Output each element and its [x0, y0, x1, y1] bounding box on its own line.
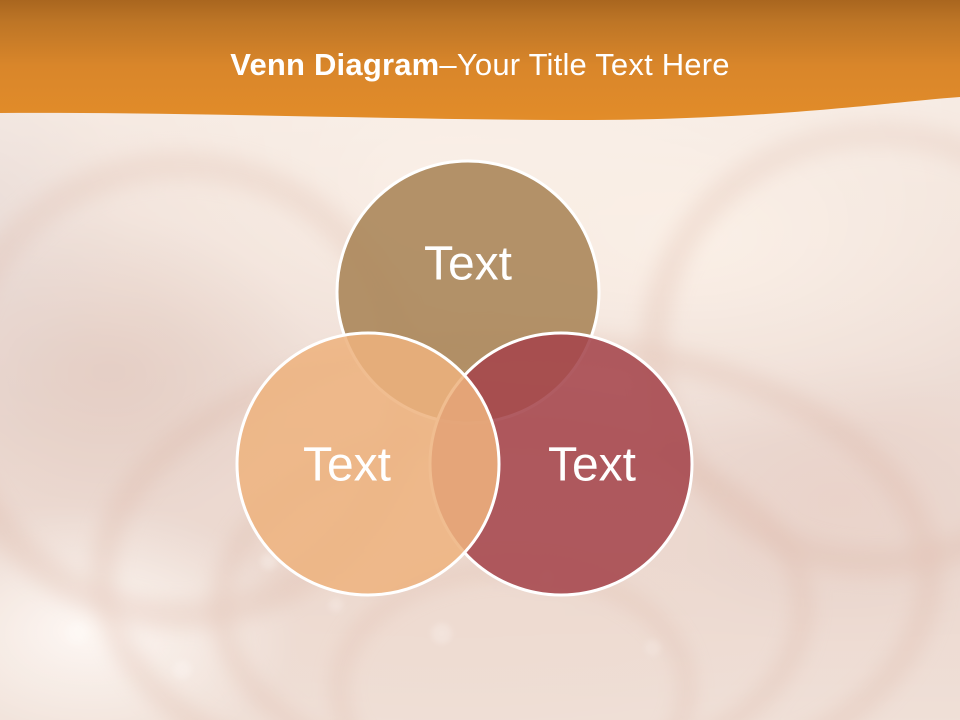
venn-label-top[interactable]: Text [424, 238, 512, 291]
venn-label-right[interactable]: Text [548, 439, 636, 492]
slide-canvas: Venn Diagram – Your Title Text Here Text… [0, 0, 960, 720]
venn-diagram: Text Text Text [0, 0, 960, 720]
venn-label-left[interactable]: Text [303, 439, 391, 492]
